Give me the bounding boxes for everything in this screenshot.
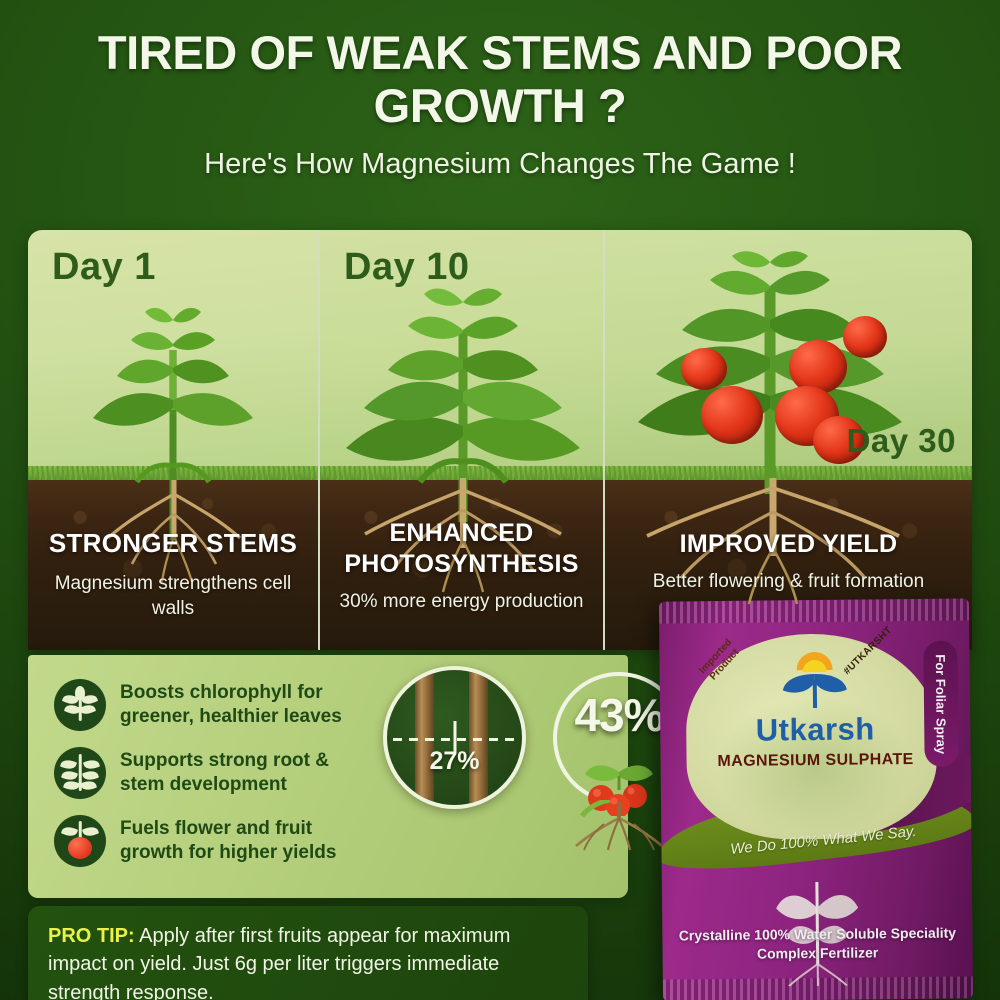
panel-3-caption: IMPROVED YIELD Better flowering & fruit … — [605, 530, 972, 593]
panel-1-title: STRONGER STEMS — [38, 528, 308, 559]
benefit-text: Fuels flower and fruit growth for higher… — [120, 817, 374, 864]
panel-3-subtitle: Better flowering & fruit formation — [615, 571, 962, 593]
stat-value-stem: 27% — [387, 747, 522, 776]
header: TIRED OF WEAK STEMS AND POOR GROWTH ? He… — [0, 0, 1000, 181]
panel-3-title: IMPROVED YIELD — [615, 530, 962, 559]
tomato-plant-icon — [54, 815, 106, 867]
panel-day-1: Day 1 STRONGER STEMS Magnes — [28, 230, 318, 650]
tomato-fruit — [701, 386, 763, 444]
benefit-text: Boosts chlorophyll for greener, healthie… — [120, 681, 374, 728]
tomato-fruit — [681, 348, 727, 390]
plant-stem-icon — [54, 747, 106, 799]
growth-stage-panels: Day 1 STRONGER STEMS Magnes — [28, 230, 972, 650]
benefits-panel: Boosts chlorophyll for greener, healthie… — [28, 655, 628, 898]
day-label-30: Day 30 — [847, 422, 956, 460]
page-title: TIRED OF WEAK STEMS AND POOR GROWTH ? — [30, 26, 970, 132]
tomato-fruit — [789, 340, 847, 394]
panel-1-subtitle: Magnesium strengthens cell walls — [38, 571, 308, 622]
packet-footer-text: Crystalline 100% Water Soluble Specialit… — [662, 923, 972, 965]
page-subtitle: Here's How Magnesium Changes The Game ! — [30, 148, 970, 181]
pro-tip-box: PRO TIP: Apply after first fruits appear… — [28, 906, 588, 1000]
benefits-list: Boosts chlorophyll for greener, healthie… — [54, 671, 374, 875]
day-label-10: Day 10 — [344, 246, 470, 289]
panel-2-title: ENHANCED PHOTOSYNTHESIS — [330, 518, 593, 580]
tomato-fruit — [843, 316, 887, 358]
root-ball-icon — [564, 800, 674, 852]
product-packet[interactable]: Utkarsh MAGNESIUM SULPHATE Imported Prod… — [659, 598, 973, 1000]
panel-day-10: Day 10 ENHANCED PHOTOSYNTH — [318, 230, 603, 650]
panel-day-30: Day 30 IM — [603, 230, 972, 650]
list-item: Boosts chlorophyll for greener, healthie… — [54, 671, 374, 739]
day-label-1: Day 1 — [52, 246, 156, 289]
foliar-spray-badge: For Foliar Spray — [923, 641, 958, 767]
list-item: Fuels flower and fruit growth for higher… — [54, 807, 374, 875]
list-item: Supports strong root & stem development — [54, 739, 374, 807]
panel-2-subtitle: 30% more energy production — [330, 591, 593, 613]
pro-tip-label: PRO TIP: — [48, 925, 135, 947]
panel-2-caption: ENHANCED PHOTOSYNTHESIS 30% more energy … — [320, 518, 603, 613]
foliar-spray-label: For Foliar Spray — [933, 654, 949, 754]
utkarsh-logo-icon — [778, 650, 851, 713]
stat-circle-stem-thickness: 27% — [383, 666, 526, 809]
leaf-sprout-icon — [54, 679, 106, 731]
panel-1-caption: STRONGER STEMS Magnesium strengthens cel… — [28, 528, 318, 622]
benefit-text: Supports strong root & stem development — [120, 749, 374, 796]
